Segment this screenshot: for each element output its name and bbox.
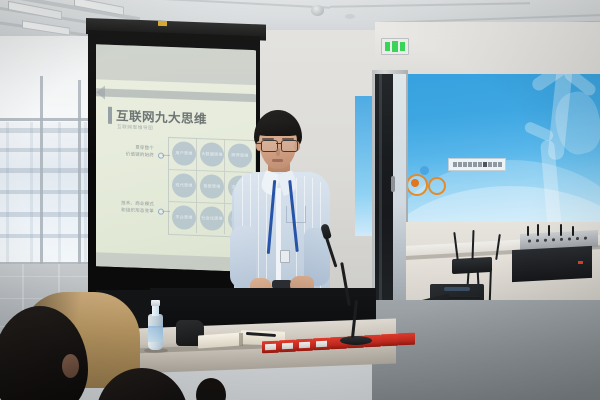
slide-title-accent: [108, 107, 112, 124]
water-bottle-label: [148, 326, 163, 342]
presenter-shirt-placket: [276, 188, 281, 284]
red-box-window: [299, 342, 310, 348]
equipment-cable: [537, 224, 539, 236]
red-product-box[interactable]: [398, 333, 415, 346]
presenter-mouth: [272, 159, 283, 162]
microphone-base: [340, 336, 372, 345]
audience-head: [196, 378, 226, 400]
glasses-bridge: [276, 143, 281, 144]
lanyard-badge: [280, 250, 290, 263]
water-bottle-cap[interactable]: [151, 300, 160, 306]
door-handle[interactable]: [391, 176, 395, 192]
slide-grid-circle: 大数据思维: [200, 142, 224, 167]
equipment-cable: [527, 226, 529, 236]
audience-ear: [62, 354, 79, 378]
left-room-area: [0, 36, 96, 326]
glasses-icon: [281, 140, 298, 152]
equipment-cable: [572, 226, 574, 236]
emergency-exit-sign: [381, 38, 409, 55]
red-product-box[interactable]: [381, 334, 398, 347]
circle-graphic-icon: [420, 166, 429, 175]
slide-grid-circle: 社会化思维: [200, 206, 224, 231]
photo-scene: 互联网九大思维 互联网思维导图 用户思维 大数据思维 跨界思维 迭代思维: [0, 0, 600, 400]
slide-grid-circle: 迭代思维: [172, 173, 196, 198]
red-box-window: [316, 341, 327, 347]
glasses-temple: [256, 143, 262, 144]
slide-annotation: 贯穿整个 价值链的始终: [110, 145, 154, 161]
ceiling-light: [22, 20, 70, 36]
slide-subtitle: 互联网思维导图: [117, 124, 153, 131]
amplifier[interactable]: [512, 246, 592, 282]
notebook-spine: [239, 333, 243, 346]
wall-plaque-sign: [448, 158, 506, 171]
red-box-window: [265, 344, 276, 350]
slide-grid-circle: 用户思维: [172, 141, 196, 166]
presenter-nose: [276, 148, 280, 156]
circle-graphic-icon: [428, 177, 446, 195]
circle-graphic-icon: [411, 179, 419, 187]
floor-right: [372, 300, 600, 400]
speaker-handle: [444, 287, 470, 291]
glass-door[interactable]: [375, 74, 393, 312]
equipment-cable: [548, 225, 550, 236]
slide-arrow-bar: [96, 88, 256, 102]
door-opening: [393, 74, 406, 312]
ceiling-dome-fixture: [311, 5, 324, 16]
slide-annotation: 技术、商业模式 和组织形态变革: [106, 201, 154, 217]
screen-pull-tab[interactable]: [158, 21, 167, 26]
presenter-shirt-pocket: [286, 206, 306, 223]
slide-top-band: [96, 44, 256, 85]
slide-grid-circle: 极致思维: [200, 174, 224, 199]
ceiling-vent: [345, 14, 355, 19]
amplifier-power-led: [578, 261, 583, 264]
blue-wall-mural: [406, 74, 600, 222]
red-box-window: [282, 343, 293, 349]
slide-grid-circle: 平台思维: [172, 205, 196, 230]
equipment-cable: [560, 224, 562, 236]
door-glass-reflection: [379, 74, 382, 312]
